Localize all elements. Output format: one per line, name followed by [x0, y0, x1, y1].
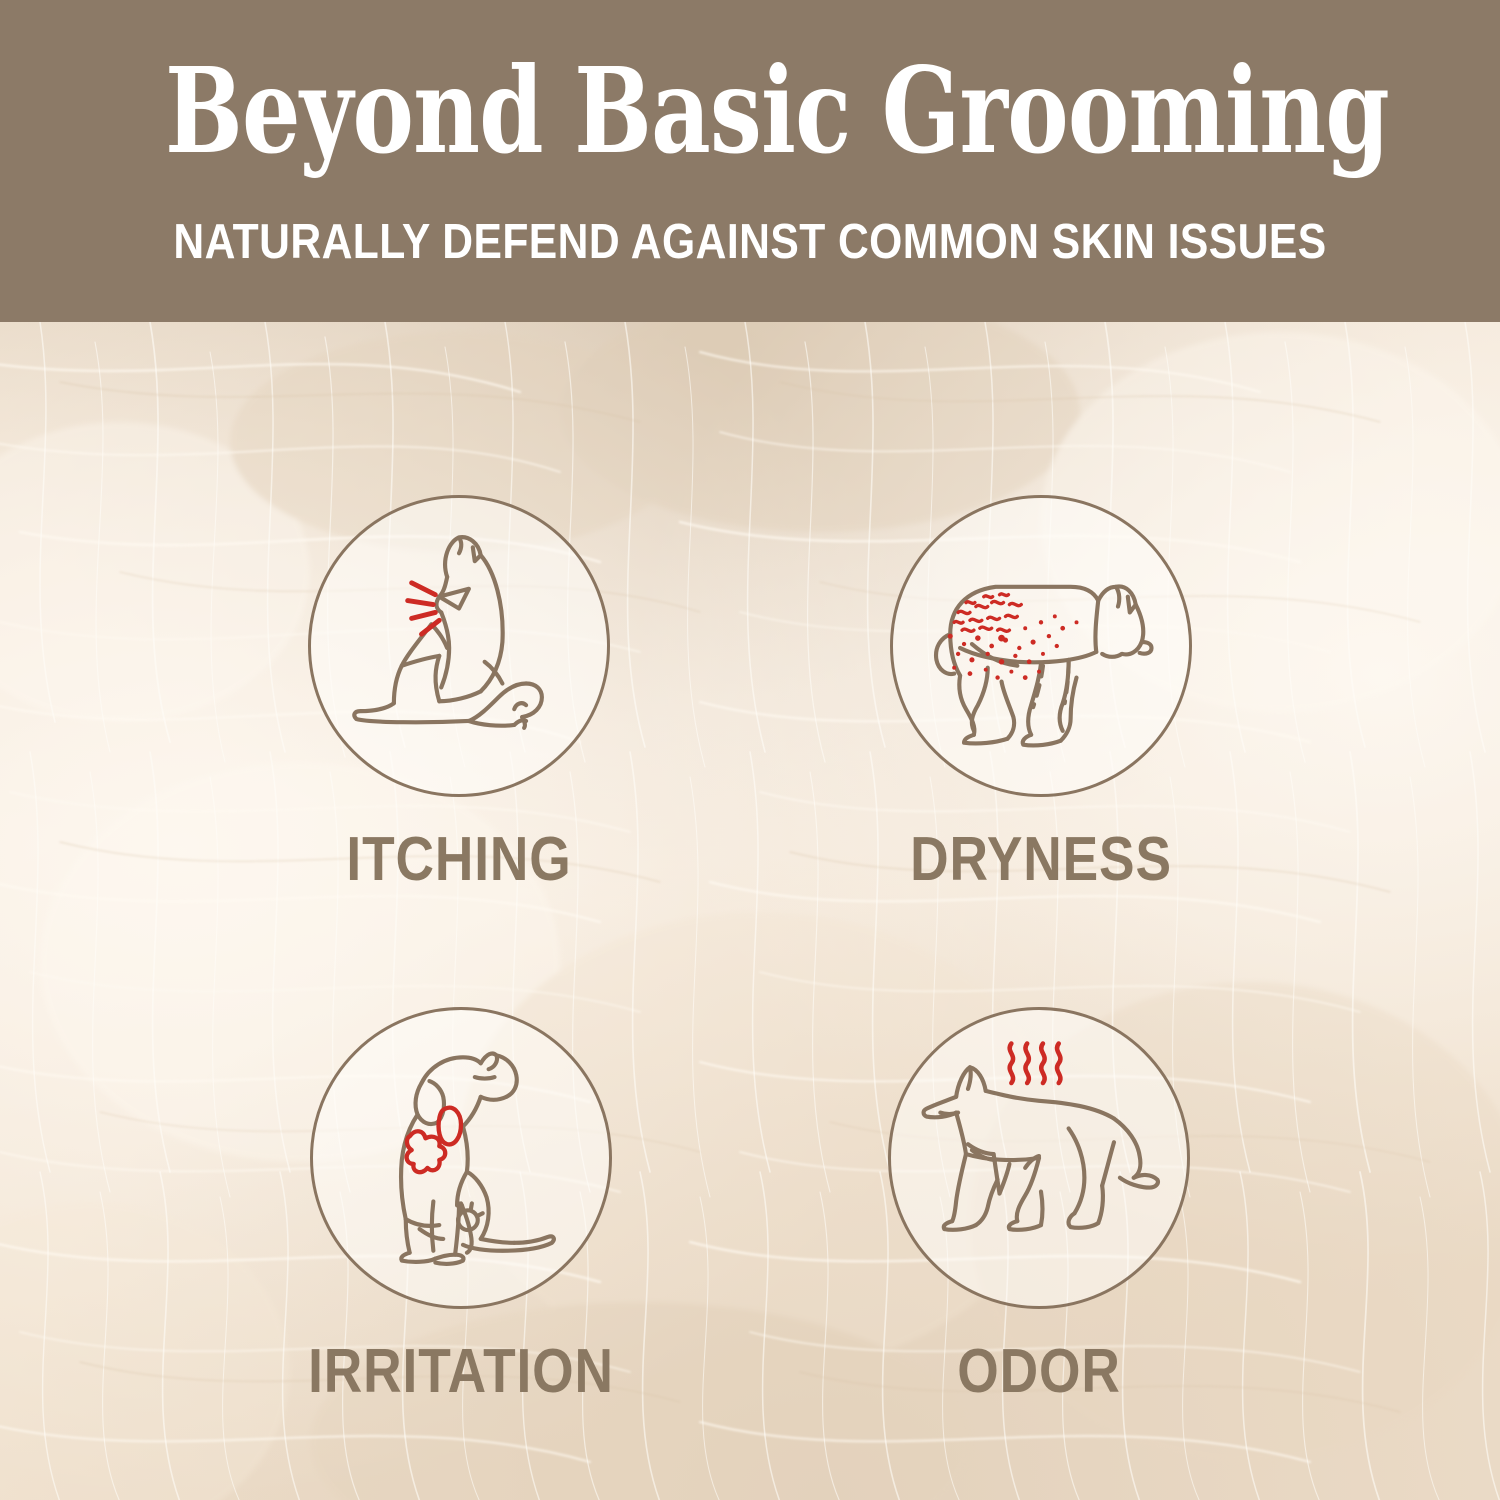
dog-walking-odor-icon	[891, 1010, 1187, 1306]
odor-circle-wrap	[809, 1007, 1269, 1313]
itching-icon-circle[interactable]	[308, 495, 610, 797]
dry-skin-dots	[948, 614, 1079, 680]
feature-label-irritation: IRRITATION	[263, 1339, 659, 1405]
irritation-icon-circle[interactable]	[310, 1007, 612, 1309]
feature-item-irritation[interactable]: IRRITATION	[231, 1007, 691, 1405]
dog-scratching-icon	[311, 498, 607, 794]
feature-item-odor[interactable]: ODOR	[809, 1007, 1269, 1405]
feature-item-itching[interactable]: ITCHING	[229, 495, 689, 893]
dryness-icon-circle[interactable]	[890, 495, 1192, 797]
itching-circle-wrap	[229, 495, 689, 801]
dryness-circle-wrap	[811, 495, 1271, 801]
feature-grid: ITCHING	[0, 0, 1500, 1500]
dog-sitting-irritated-patch-icon	[313, 1010, 609, 1306]
odor-icon-circle[interactable]	[888, 1007, 1190, 1309]
feature-label-itching: ITCHING	[261, 827, 657, 893]
feature-item-dryness[interactable]: DRYNESS	[811, 495, 1271, 893]
dog-flaky-skin-icon	[893, 498, 1189, 794]
irritation-circle-wrap	[231, 1007, 691, 1313]
feature-label-dryness: DRYNESS	[843, 827, 1239, 893]
promo-infographic: Beyond Basic Grooming NATURALLY DEFEND A…	[0, 0, 1500, 1500]
odor-stink-waves	[1010, 1044, 1061, 1083]
feature-label-odor: ODOR	[841, 1339, 1237, 1405]
itch-motion-lines	[408, 583, 440, 634]
